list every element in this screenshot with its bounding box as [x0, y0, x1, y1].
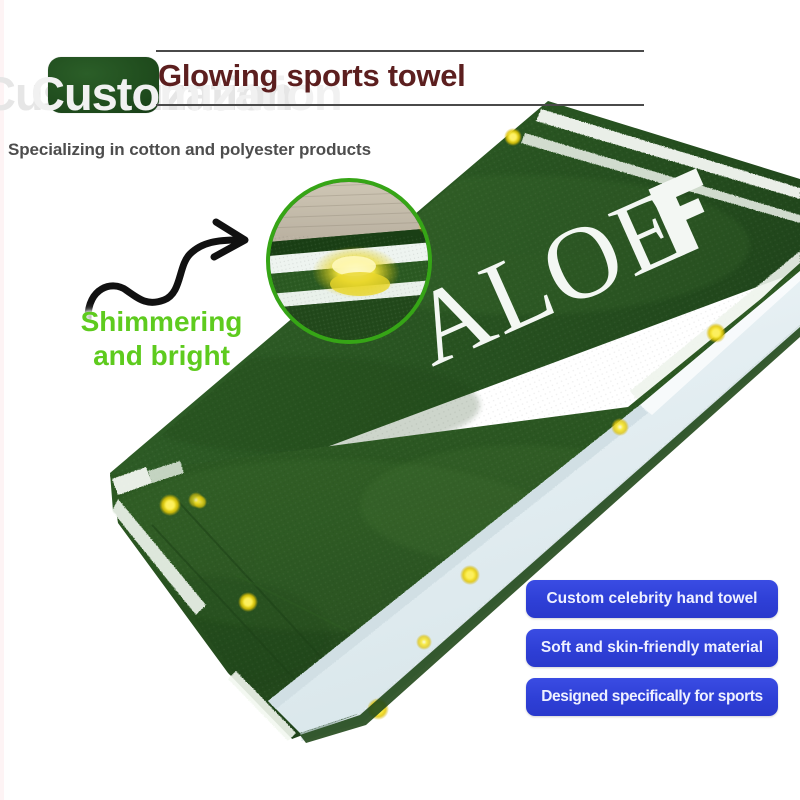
feature-pill-3[interactable]: Designed specifically for sports — [526, 678, 778, 716]
subtitle: Specializing in cotton and polyester pro… — [8, 140, 371, 160]
shimmer-line-2: and bright — [44, 339, 279, 373]
customization-badge: Customization — [48, 57, 159, 113]
feature-pill-1[interactable]: Custom celebrity hand towel — [526, 580, 778, 618]
magnified-detail-circle — [266, 178, 432, 344]
shimmer-line-1: Shimmering — [44, 305, 279, 339]
headline-rule-bottom — [156, 104, 644, 106]
feature-pill-2[interactable]: Soft and skin-friendly material — [526, 629, 778, 667]
magnifier-content — [268, 180, 432, 344]
led-row-top — [504, 128, 522, 146]
shimmer-callout: Shimmering and bright — [44, 305, 279, 373]
headline-rule-top — [156, 50, 644, 52]
led-row-upper-left — [188, 492, 204, 508]
headline-block: Glowing sports towel — [156, 50, 644, 106]
feature-pill-list: Custom celebrity hand towel Soft and ski… — [526, 580, 778, 716]
product-promo-image: ALOE — [0, 0, 800, 800]
page-title: Glowing sports towel — [156, 54, 644, 98]
